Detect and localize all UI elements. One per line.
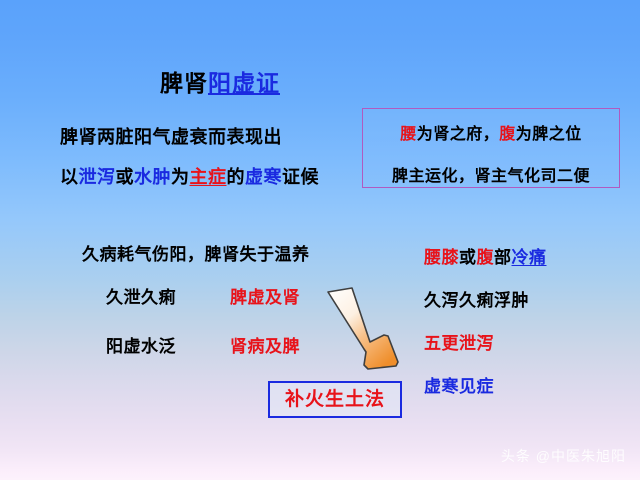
cause-label: 久泄久痢 <box>106 283 230 308</box>
result-label: 脾虚及肾 <box>230 283 300 308</box>
treatment-method-box: 补火生土法 <box>268 381 402 418</box>
treatment-method-label: 补火生土法 <box>285 389 385 410</box>
symptom-item: 五更泄泻 <box>424 329 547 354</box>
symptom-item: 久泻久痢浮肿 <box>424 286 547 311</box>
symptom-list: 腰膝或腹部冷痛 久泻久痢浮肿 五更泄泻 虚寒见症 <box>424 243 547 397</box>
watermark: 头条 @中医朱旭阳 <box>501 446 626 466</box>
cause-result-list: 久泄久痢脾虚及肾 阳虚水泛肾病及脾 <box>106 283 300 357</box>
intro-line-2: 以泄泻或水肿为主症的虚寒证候 <box>60 168 319 186</box>
pathogenesis-statement: 久病耗气伤阳，脾肾失于温养 <box>82 240 310 265</box>
cause-result-row: 久泄久痢脾虚及肾 <box>106 283 300 308</box>
theory-line-1: 腰为肾之府，腹为脾之位 <box>363 120 619 144</box>
symptom-item: 腰膝或腹部冷痛 <box>424 243 547 268</box>
cause-label: 阳虚水泛 <box>106 332 230 357</box>
bent-arrow-down-right-icon <box>312 286 408 372</box>
theory-frame-box: 腰为肾之府，腹为脾之位 脾主运化，肾主气化司二便 <box>362 108 620 188</box>
theory-line-2: 脾主运化，肾主气化司二便 <box>363 162 619 186</box>
page-title: 脾肾阳虚证 <box>0 64 440 98</box>
intro-text-block: 脾肾两脏阳气虚衰而表现出 以泄泻或水肿为主症的虚寒证候 <box>60 128 319 186</box>
slide-canvas: 脾肾阳虚证 脾肾两脏阳气虚衰而表现出 以泄泻或水肿为主症的虚寒证候 腰为肾之府，… <box>0 0 640 480</box>
intro-line-1: 脾肾两脏阳气虚衰而表现出 <box>60 128 319 146</box>
symptom-item: 虚寒见症 <box>424 372 547 397</box>
cause-result-row: 阳虚水泛肾病及脾 <box>106 332 300 357</box>
result-label: 肾病及脾 <box>230 332 300 357</box>
